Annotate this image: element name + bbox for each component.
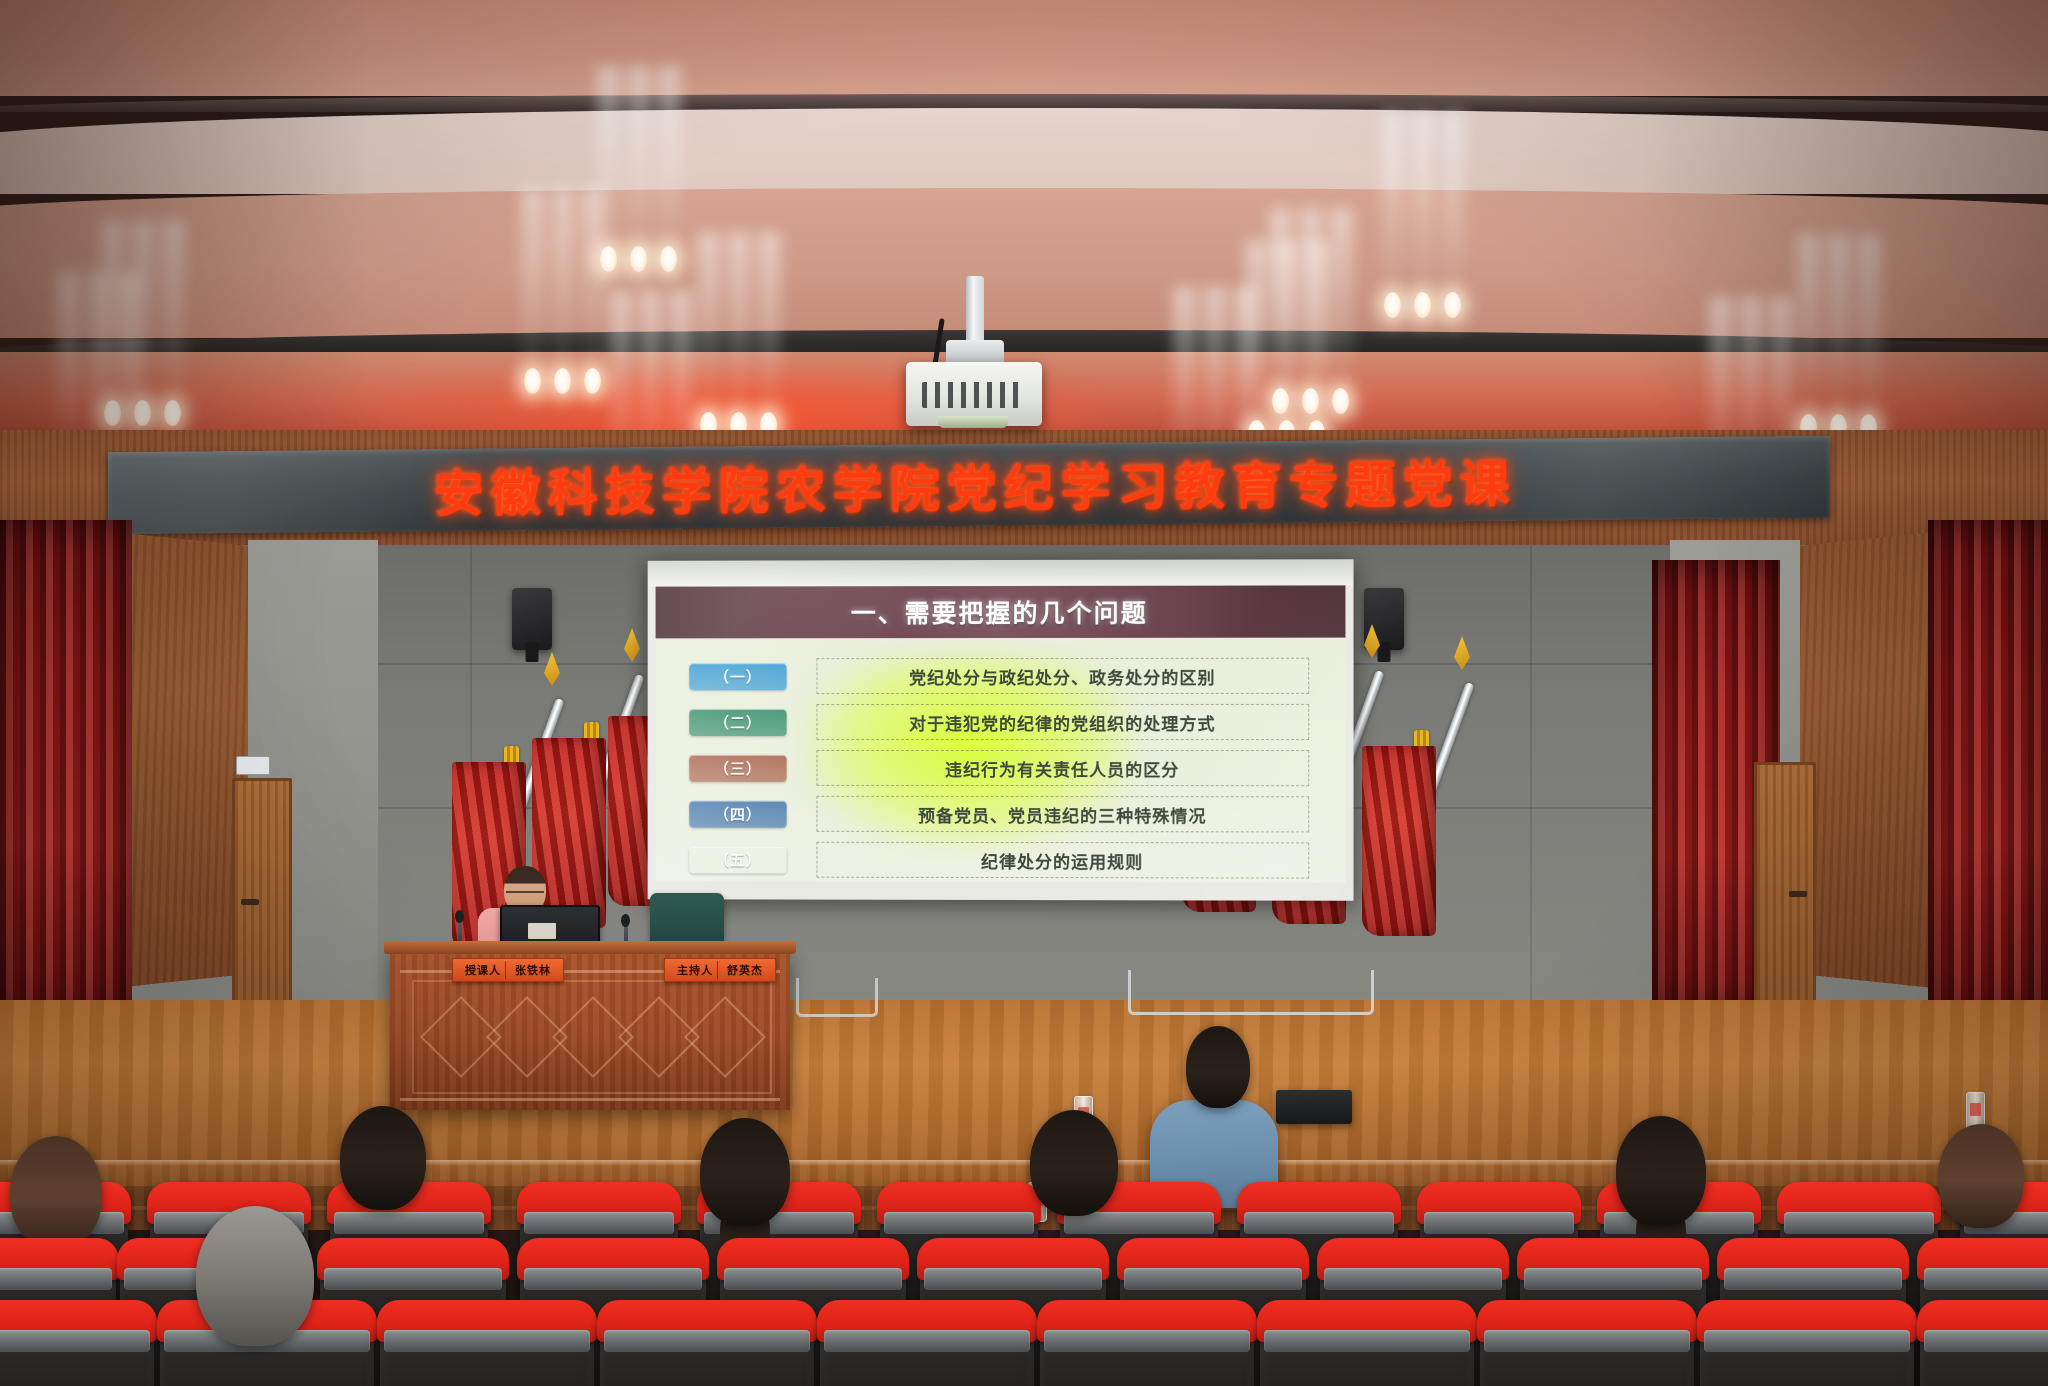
slide-row: （五）纪律处分的运用规则: [681, 840, 1319, 881]
seat-gray-band: [1924, 1330, 2048, 1352]
seat-gray-band: [1064, 1212, 1214, 1234]
audience-head: [1938, 1124, 2024, 1228]
seat-gray-band: [1124, 1268, 1302, 1290]
projector-ports: [922, 382, 1026, 408]
nameplate-host-name: 舒英杰: [727, 962, 763, 978]
slide-row-badge: （四）: [689, 800, 786, 827]
presentation-slide: 一、需要把握的几个问题 （一）党纪处分与政纪处分、政务处分的区别（二）对于违犯党…: [656, 585, 1346, 882]
seat-gray-band: [1264, 1330, 1470, 1352]
slide-row-list: （一）党纪处分与政纪处分、政务处分的区别（二）对于违犯党的纪律的党组织的处理方式…: [681, 656, 1319, 881]
projection-screen: 一、需要把握的几个问题 （一）党纪处分与政纪处分、政务处分的区别（二）对于违犯党…: [648, 559, 1354, 901]
slide-row-text: 预备党员、党员违纪的三种特殊情况: [816, 796, 1309, 833]
seat-gray-band: [1784, 1212, 1934, 1234]
seat-gray-band: [1484, 1330, 1690, 1352]
audience-head: [700, 1118, 790, 1226]
audience-seat[interactable]: [1700, 1300, 1914, 1386]
slide-header: 一、需要把握的几个问题: [656, 585, 1346, 638]
audience-seat[interactable]: [0, 1300, 154, 1386]
audience-seat[interactable]: [1260, 1300, 1474, 1386]
seat-gray-band: [1424, 1212, 1574, 1234]
seat-gray-band: [1724, 1268, 1902, 1290]
projector-icon: [966, 276, 984, 350]
nameplate-host: 主持人 舒英杰: [664, 958, 776, 982]
slide-title: 一、需要把握的几个问题: [851, 594, 1148, 630]
seat-gray-band: [1924, 1268, 2048, 1290]
wall-speaker-icon-left: [512, 588, 552, 650]
seat-gray-band: [524, 1212, 674, 1234]
slide-row: （二）对于违犯党的纪律的党组织的处理方式: [681, 702, 1319, 742]
slide-row-text: 违纪行为有关责任人员的区分: [816, 750, 1309, 786]
exit-sign-icon: [236, 756, 270, 775]
podium-diamond: [684, 996, 766, 1078]
door-icon-right[interactable]: [1754, 762, 1816, 1006]
microphone-head-left: [455, 910, 464, 923]
seat-gray-band: [884, 1212, 1034, 1234]
slide-body: （一）党纪处分与政纪处分、政务处分的区别（二）对于违犯党的纪律的党组织的处理方式…: [656, 638, 1346, 883]
seat-gray-band: [604, 1330, 810, 1352]
audience-seat[interactable]: [600, 1300, 814, 1386]
door-handle-left: [241, 899, 259, 905]
laptop-sticker: [528, 923, 556, 939]
nameplate-speaker-name: 张铁林: [515, 962, 551, 978]
seat-gray-band: [824, 1330, 1030, 1352]
slide-row-badge: （三）: [689, 754, 786, 781]
door-handle-right: [1789, 891, 1807, 897]
left-stage-curtain: [0, 520, 132, 1020]
microphone-head-center: [621, 914, 630, 927]
audience-head: [196, 1206, 314, 1346]
slide-row-text: 对于违犯党的纪律的党组织的处理方式: [816, 704, 1309, 740]
slide-row-badge: （五）: [689, 846, 786, 873]
slide-row: （一）党纪处分与政纪处分、政务处分的区别: [681, 656, 1319, 696]
banner-title: 安徽科技学院农学院党纪学习教育专题党课: [350, 446, 1600, 524]
nameplate-speaker-role: 授课人: [465, 962, 501, 978]
wall-seam-v2: [1530, 545, 1532, 1055]
nameplate-speaker: 授课人 张铁林: [452, 958, 564, 982]
flag-stand-right: [1128, 970, 1374, 1015]
seat-gray-band: [1244, 1212, 1394, 1234]
audience-head: [340, 1106, 426, 1210]
screen-top-bar: [648, 559, 1354, 586]
projector-lens: [938, 416, 1008, 428]
slide-row-badge: （二）: [689, 709, 786, 736]
slide-row-badge: （一）: [689, 663, 786, 690]
audience-desk-highlight: [0, 1160, 2048, 1166]
podium-top-surface: [384, 941, 796, 954]
audience-head: [10, 1136, 102, 1248]
seat-gray-band: [0, 1268, 112, 1290]
audience-head: [1030, 1110, 1118, 1216]
podium-rail-lower: [400, 1098, 780, 1101]
seat-gray-band: [524, 1268, 702, 1290]
slide-row-text: 纪律处分的运用规则: [816, 842, 1309, 879]
audience-seat[interactable]: [1480, 1300, 1694, 1386]
seat-gray-band: [384, 1330, 590, 1352]
seat-gray-band: [1524, 1268, 1702, 1290]
door-icon[interactable]: [232, 778, 292, 1008]
nameplate-divider: [717, 961, 718, 979]
audience-seat[interactable]: [1040, 1300, 1254, 1386]
seat-gray-band: [1324, 1268, 1502, 1290]
slide-row-text: 党纪处分与政纪处分、政务处分的区别: [816, 658, 1309, 694]
auditorium-scene: 安徽科技学院农学院党纪学习教育专题党课: [0, 0, 2048, 1386]
seat-gray-band: [1044, 1330, 1250, 1352]
right-stage-curtain-outer: [1928, 520, 2048, 1020]
seat-gray-band: [334, 1212, 484, 1234]
audience-head-blue-shirt: [1186, 1026, 1250, 1108]
seat-gray-band: [0, 1330, 150, 1352]
audience-seat[interactable]: [1920, 1300, 2048, 1386]
audience-seat[interactable]: [380, 1300, 594, 1386]
seat-gray-band: [1704, 1330, 1910, 1352]
audience-head: [1616, 1116, 1706, 1226]
nameplate-host-role: 主持人: [677, 962, 713, 978]
slide-row: （三）违纪行为有关责任人员的区分: [681, 748, 1319, 788]
seat-gray-band: [724, 1268, 902, 1290]
stage-equipment-box: [1276, 1090, 1352, 1124]
slide-row: （四）预备党员、党员违纪的三种特殊情况: [681, 794, 1319, 835]
seat-gray-band: [924, 1268, 1102, 1290]
seat-gray-band: [324, 1268, 502, 1290]
speaker-glasses-icon: [506, 891, 544, 901]
flag-icon: [1362, 746, 1436, 936]
podium-front-panel: [412, 980, 772, 1094]
flag-stand-left: [796, 978, 878, 1017]
nameplate-divider: [505, 961, 506, 979]
audience-seat[interactable]: [820, 1300, 1034, 1386]
